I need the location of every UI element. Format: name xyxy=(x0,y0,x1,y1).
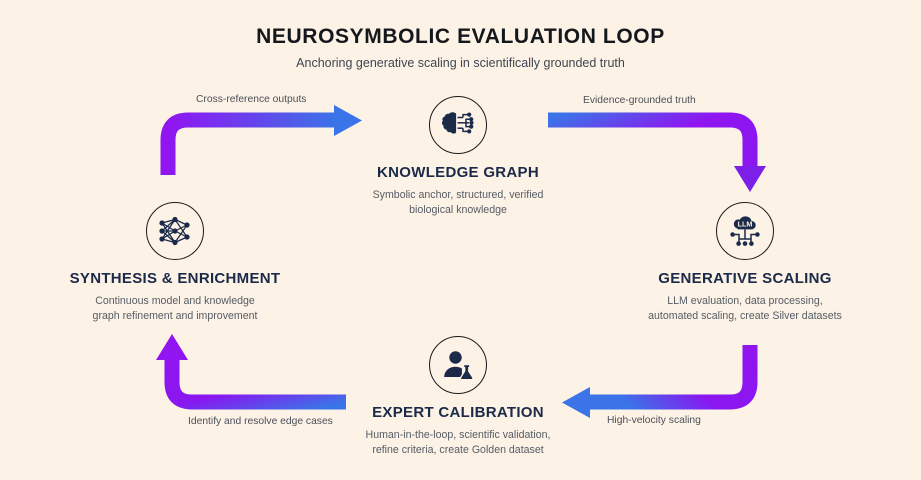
brain-circuit-icon xyxy=(441,110,475,140)
node-label-expert-calibration: EXPERT CALIBRATION xyxy=(333,404,583,422)
generative-scaling-icon-circle: LLM xyxy=(716,202,774,260)
arrow-label-high-velocity: High-velocity scaling xyxy=(607,415,701,426)
node-desc-knowledge-graph: Symbolic anchor, structured, verified bi… xyxy=(333,188,583,219)
node-label-knowledge-graph: KNOWLEDGE GRAPH xyxy=(333,164,583,182)
expert-calibration-icon-circle xyxy=(429,336,487,394)
node-label-synthesis-enrichment: SYNTHESIS & ENRICHMENT xyxy=(50,270,300,288)
node-generative-scaling[interactable]: LLM GENERATIVE SCALING xyxy=(620,202,870,325)
node-desc-expert-calibration: Human-in-the-loop, scientific validation… xyxy=(333,428,583,459)
arrow-label-cross-reference: Cross-reference outputs xyxy=(196,94,306,105)
diagram-canvas: NEUROSYMBOLIC EVALUATION LOOP Anchoring … xyxy=(0,0,921,480)
arrow-high-velocity xyxy=(562,345,750,418)
node-expert-calibration[interactable]: EXPERT CALIBRATION Human-in-the-loop, sc… xyxy=(333,336,583,459)
synthesis-enrichment-icon-circle xyxy=(146,202,204,260)
scientist-flask-icon xyxy=(442,350,474,380)
arrow-label-identify-resolve: Identify and resolve edge cases xyxy=(188,416,333,427)
knowledge-graph-icon-circle xyxy=(429,96,487,154)
llm-cloud-icon: LLM xyxy=(728,215,762,247)
neural-network-icon xyxy=(158,216,192,246)
node-synthesis-enrichment[interactable]: SYNTHESIS & ENRICHMENT Continuous model … xyxy=(50,202,300,325)
node-desc-generative-scaling: LLM evaluation, data processing, automat… xyxy=(620,294,870,325)
node-label-generative-scaling: GENERATIVE SCALING xyxy=(620,270,870,288)
arrow-identify-resolve xyxy=(156,334,346,402)
node-knowledge-graph[interactable]: KNOWLEDGE GRAPH Symbolic anchor, structu… xyxy=(333,96,583,219)
arrow-label-evidence-grounded: Evidence-grounded truth xyxy=(583,95,696,106)
node-desc-synthesis-enrichment: Continuous model and knowledge graph ref… xyxy=(50,294,300,325)
llm-icon-text: LLM xyxy=(738,219,753,228)
